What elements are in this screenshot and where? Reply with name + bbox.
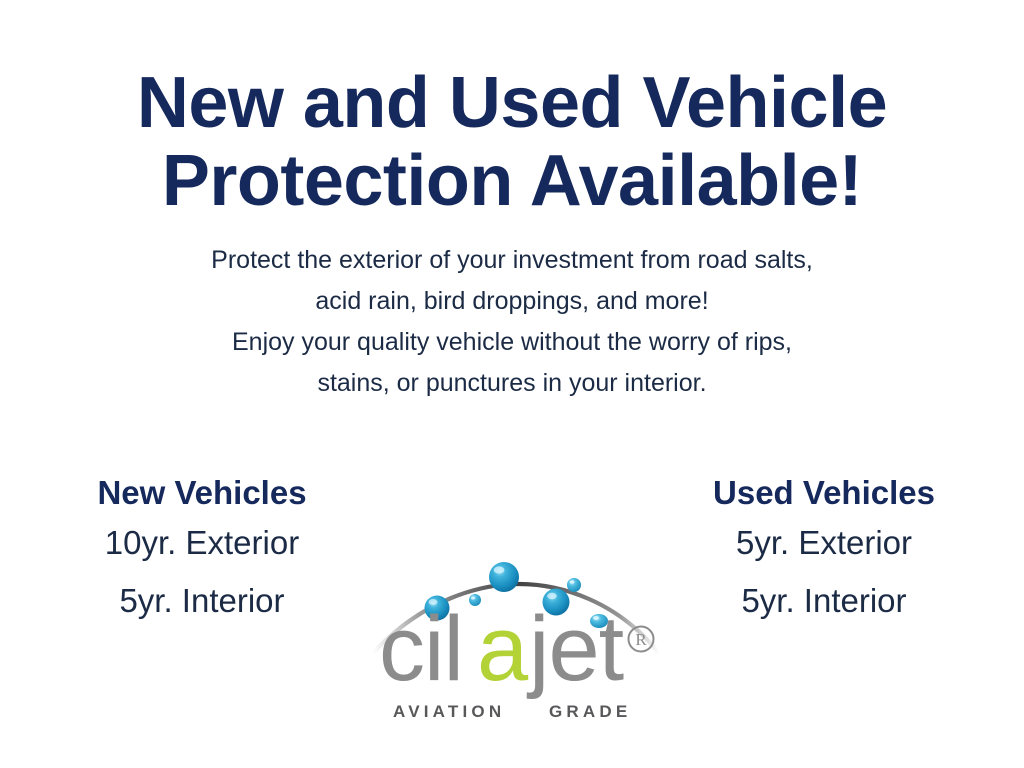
page-title-line-1: New and Used Vehicle bbox=[0, 64, 1024, 142]
description-line-1: Protect the exterior of your investment … bbox=[0, 240, 1024, 281]
description-line-3: Enjoy your quality vehicle without the w… bbox=[0, 322, 1024, 363]
droplet-small-upper-right bbox=[567, 578, 581, 592]
description-line-4: stains, or punctures in your interior. bbox=[0, 363, 1024, 404]
offer-new-interior: 5yr. Interior bbox=[52, 572, 352, 630]
slide-canvas: New and Used Vehicle Protection Availabl… bbox=[0, 0, 1024, 768]
logo-tagline-aviation: AVIATION bbox=[393, 702, 505, 721]
offer-column-new-vehicles: New Vehicles 10yr. Exterior 5yr. Interio… bbox=[52, 472, 352, 630]
offer-used-exterior: 5yr. Exterior bbox=[674, 514, 974, 572]
logo-wordmark-cil: cil bbox=[379, 598, 463, 700]
offer-new-exterior: 10yr. Exterior bbox=[52, 514, 352, 572]
offer-used-interior: 5yr. Interior bbox=[674, 572, 974, 630]
description-paragraph: Protect the exterior of your investment … bbox=[0, 240, 1024, 404]
page-title: New and Used Vehicle Protection Availabl… bbox=[0, 64, 1024, 220]
offer-column-used-vehicles: Used Vehicles 5yr. Exterior 5yr. Interio… bbox=[674, 472, 974, 630]
logo-tagline-grade: GRADE bbox=[549, 702, 631, 721]
droplet-large-center bbox=[489, 562, 519, 592]
page-title-line-2: Protection Available! bbox=[0, 142, 1024, 220]
description-line-2: acid rain, bird droppings, and more! bbox=[0, 281, 1024, 322]
droplet-large-center-highlight bbox=[494, 566, 505, 573]
offer-title-new-vehicles: New Vehicles bbox=[52, 472, 352, 514]
cilajet-logo-svg: cil a jet R AVIATION GRADE bbox=[371, 552, 661, 727]
logo-wordmark-jet: jet bbox=[526, 598, 624, 700]
droplet-small-upper-right-highlight bbox=[570, 580, 575, 583]
droplet-tiny-center-left-highlight bbox=[471, 597, 475, 600]
offer-title-used-vehicles: Used Vehicles bbox=[674, 472, 974, 514]
cilajet-logo: cil a jet R AVIATION GRADE bbox=[371, 552, 661, 727]
svg-text:R: R bbox=[635, 630, 647, 649]
registered-trademark-icon: R bbox=[629, 627, 654, 652]
logo-wordmark-a-accent: a bbox=[477, 598, 529, 700]
